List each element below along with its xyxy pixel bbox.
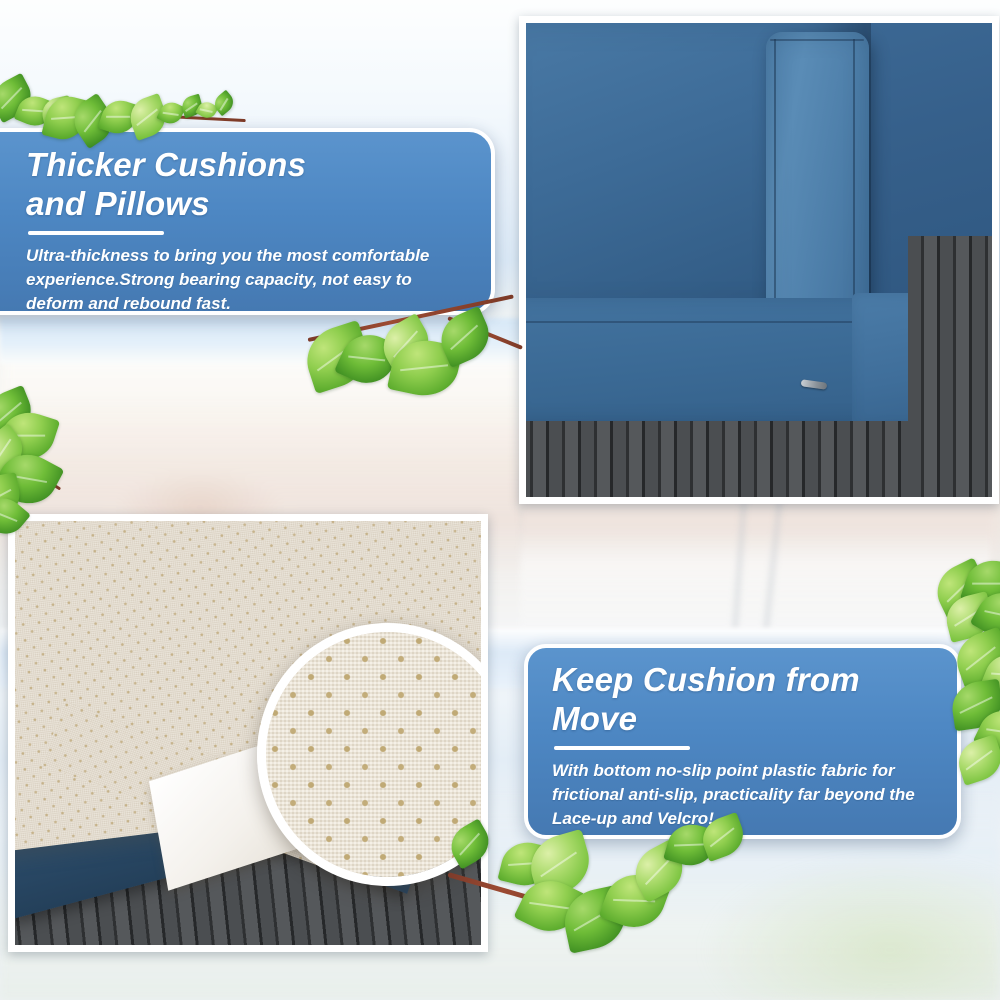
panel-thicker-cushions: Thicker Cushions and Pillows Ultra-thick… <box>0 128 495 315</box>
pillow-top-seam <box>770 39 864 41</box>
panel-keep-body: With bottom no-slip point plastic fabric… <box>552 759 937 831</box>
panel-thicker-heading: Thicker Cushions and Pillows <box>26 146 469 224</box>
ivy-vine-bottom <box>430 838 760 958</box>
rattan-armrest-weave <box>908 236 992 497</box>
cushion-pillow-photo-inner <box>526 23 992 497</box>
panel-keep-cushion-from-move: Keep Cushion from Move With bottom no-sl… <box>524 644 961 839</box>
leaf-cluster-right <box>912 560 1000 790</box>
cushion-pillow-photo <box>519 16 999 504</box>
antislip-bottom-photo <box>8 514 488 952</box>
leaf <box>953 734 1000 786</box>
infographic-canvas: Thicker Cushions and Pillows Ultra-thick… <box>0 0 1000 1000</box>
panel-keep-heading: Keep Cushion from Move <box>552 661 937 739</box>
antislip-photo-inner <box>15 521 481 945</box>
ivy-vine-top-left <box>0 70 250 140</box>
leaf-sprig-mid-left <box>0 388 108 538</box>
panel-keep-divider <box>554 746 690 750</box>
panel-thicker-divider <box>28 231 164 235</box>
leaf-sprig-panel-corner <box>298 300 538 410</box>
